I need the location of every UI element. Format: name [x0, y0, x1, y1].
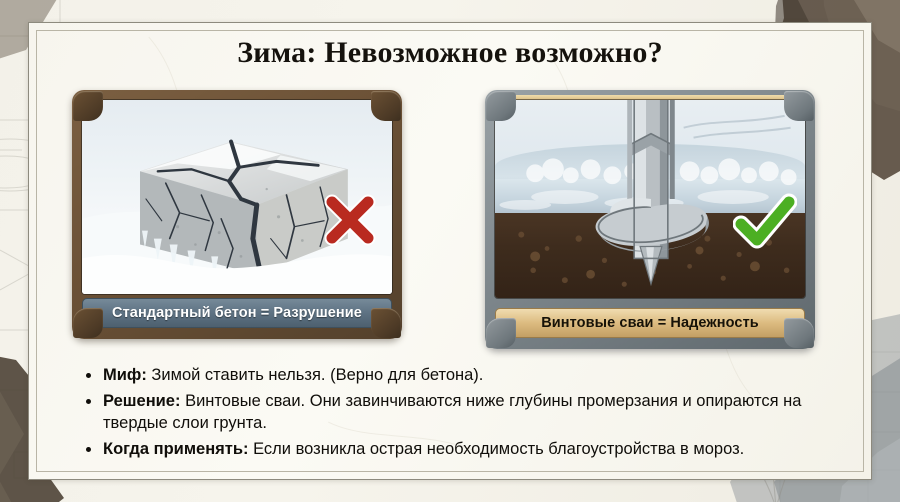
card-concrete[interactable]: Стандартный бетон = Разрушение — [72, 90, 402, 339]
caption-screw-pile: Винтовые сваи = Надежность — [495, 308, 805, 338]
list-item: Когда применять: Если возникла острая не… — [86, 438, 816, 461]
corner-cap-top-right-icon — [371, 91, 401, 121]
corner-cap-top-left-icon — [73, 91, 103, 121]
bullet-text: Винтовые сваи. Они завинчиваются ниже гл… — [103, 392, 801, 433]
bullet-lead: Когда применять: — [103, 440, 249, 458]
page-title: Зима: Невозможное возможно? — [0, 36, 900, 70]
corner-cap-bottom-right-icon — [784, 318, 814, 348]
bullet-lead: Решение: — [103, 392, 180, 410]
list-item: Миф: Зимой ставить нельзя. (Верно для бе… — [86, 364, 816, 387]
screw-pile-illustration — [494, 99, 806, 299]
corner-cap-top-right-icon — [784, 91, 814, 121]
green-check-mark-icon — [733, 190, 797, 254]
bullet-list: Миф: Зимой ставить нельзя. (Верно для бе… — [86, 364, 816, 463]
bullet-text: Зимой ставить нельзя. (Верно для бетона)… — [147, 366, 484, 384]
corner-cap-bottom-left-icon — [73, 308, 103, 338]
corner-cap-bottom-left-icon — [486, 318, 516, 348]
concrete-illustration — [81, 99, 393, 295]
card-screw-pile[interactable]: Винтовые сваи = Надежность — [485, 90, 815, 349]
illustration-cards: Стандартный бетон = Разрушение — [0, 90, 900, 350]
list-item: Решение: Винтовые сваи. Они завинчиваютс… — [86, 390, 816, 435]
corner-cap-top-left-icon — [486, 91, 516, 121]
red-x-mark-icon — [318, 188, 382, 252]
caption-concrete: Стандартный бетон = Разрушение — [82, 298, 392, 328]
slide-root: Зима: Невозможное возможно? — [0, 0, 900, 502]
corner-cap-bottom-right-icon — [371, 308, 401, 338]
bullet-lead: Миф: — [103, 366, 147, 384]
bullet-text: Если возникла острая необходимость благо… — [249, 440, 745, 458]
